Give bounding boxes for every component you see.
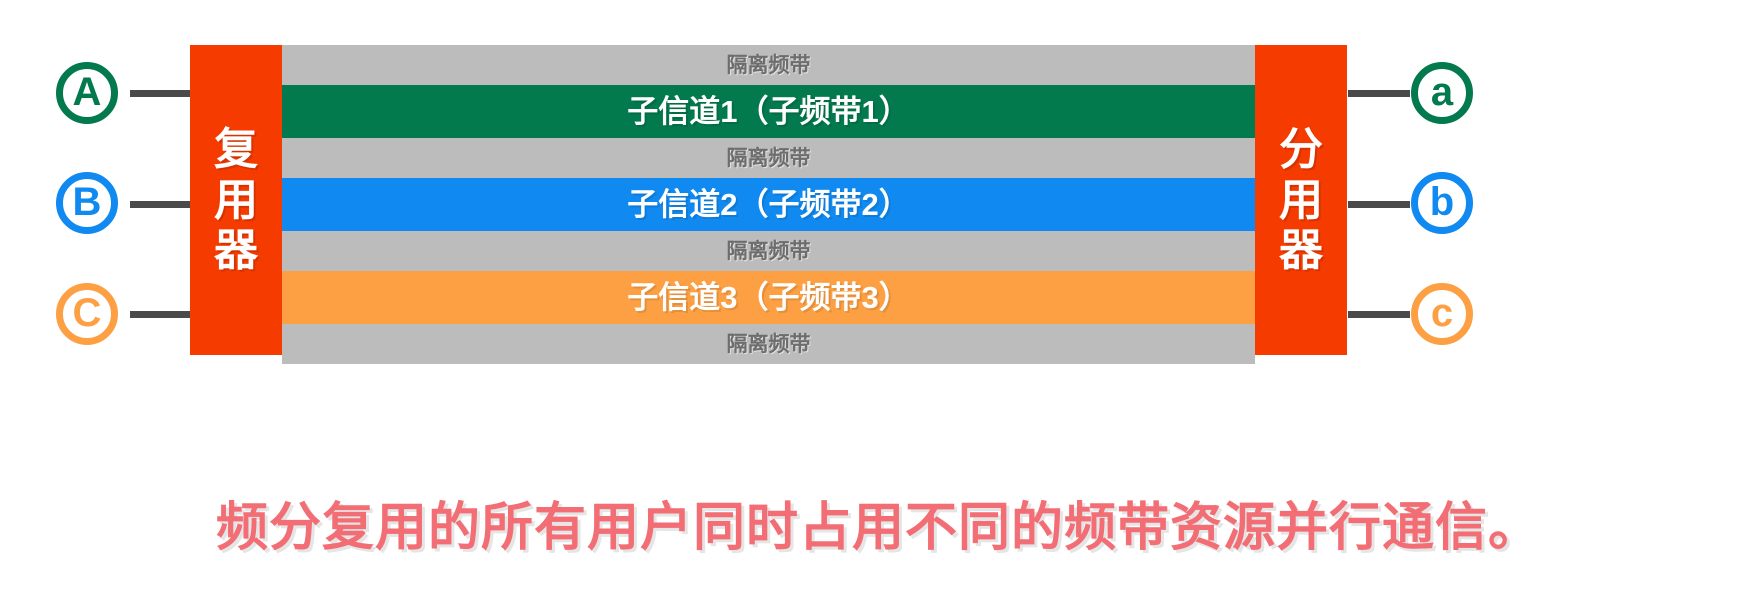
band-subchannel-3-label: 子信道3（子频带3）: [627, 282, 909, 313]
band-guard-1: 隔离频带: [282, 138, 1255, 178]
band-subchannel-1: 子信道1（子频带1）: [282, 85, 1255, 138]
input-node-b[interactable]: B: [56, 172, 118, 234]
fdm-diagram: A B C a b c 复 用 器 分 用 器 隔离频带 子信道1（子频带1） …: [0, 0, 1757, 595]
band-subchannel-2: 子信道2（子频带2）: [282, 178, 1255, 231]
connector-input-b: [130, 201, 192, 208]
demultiplexer-char-1: 分: [1279, 128, 1323, 173]
multiplexer-char-2: 用: [214, 179, 258, 224]
caption: 频分复用的所有用户同时占用不同的频带资源并行通信。: [0, 499, 1757, 559]
output-node-c-label: c: [1431, 293, 1453, 333]
caption-text: 频分复用的所有用户同时占用不同的频带资源并行通信。: [216, 499, 1541, 559]
band-guard-bottom: 隔离频带: [282, 324, 1255, 364]
demultiplexer-char-2: 用: [1279, 179, 1323, 224]
spectrum-stack: 隔离频带 子信道1（子频带1） 隔离频带 子信道2（子频带2） 隔离频带 子信道…: [282, 45, 1255, 364]
demultiplexer-box[interactable]: 分 用 器: [1255, 45, 1347, 355]
band-guard-top-label: 隔离频带: [727, 55, 811, 76]
band-guard-top: 隔离频带: [282, 45, 1255, 85]
connector-input-a: [130, 90, 192, 97]
output-node-b-label: b: [1430, 182, 1454, 222]
band-guard-bottom-label: 隔离频带: [727, 334, 811, 355]
band-subchannel-1-label: 子信道1（子频带1）: [627, 96, 909, 127]
band-subchannel-2-label: 子信道2（子频带2）: [627, 189, 909, 220]
connector-output-c: [1348, 311, 1410, 318]
multiplexer-char-1: 复: [214, 128, 258, 173]
connector-output-a: [1348, 90, 1410, 97]
input-node-b-label: B: [73, 182, 102, 222]
connector-input-c: [130, 311, 192, 318]
output-node-b[interactable]: b: [1411, 172, 1473, 234]
input-node-c-label: C: [73, 293, 102, 333]
input-node-c[interactable]: C: [56, 283, 118, 345]
output-node-a-label: a: [1431, 72, 1453, 112]
connector-output-b: [1348, 201, 1410, 208]
multiplexer-box[interactable]: 复 用 器: [190, 45, 282, 355]
demultiplexer-char-3: 器: [1279, 229, 1323, 274]
output-node-c[interactable]: c: [1411, 283, 1473, 345]
band-subchannel-3: 子信道3（子频带3）: [282, 271, 1255, 324]
input-node-a[interactable]: A: [56, 62, 118, 124]
band-guard-2-label: 隔离频带: [727, 241, 811, 262]
band-guard-2: 隔离频带: [282, 231, 1255, 271]
band-guard-1-label: 隔离频带: [727, 148, 811, 169]
input-node-a-label: A: [73, 72, 102, 112]
output-node-a[interactable]: a: [1411, 62, 1473, 124]
multiplexer-char-3: 器: [214, 229, 258, 274]
